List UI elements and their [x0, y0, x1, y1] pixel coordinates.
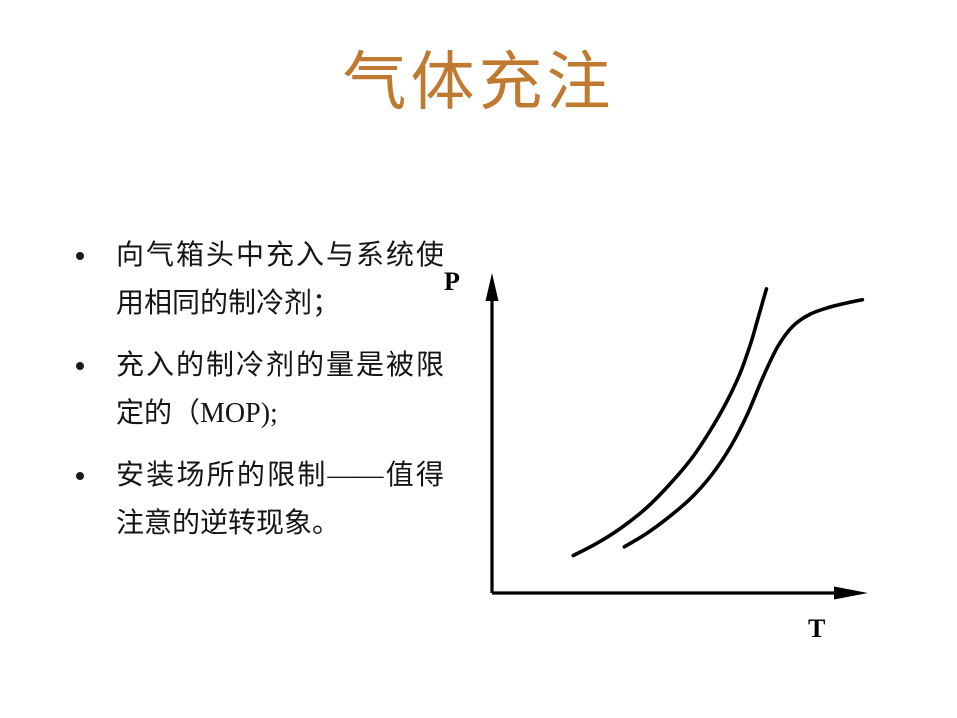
y-axis-label: P	[444, 267, 460, 296]
list-item: 向气箱头中充入与系统使用相同的制冷剂；	[64, 232, 444, 328]
list-item: 安装场所的限制——值得注意的逆转现象。	[64, 452, 444, 548]
x-axis-label: T	[808, 614, 825, 643]
bullet-list: 向气箱头中充入与系统使用相同的制冷剂； 充入的制冷剂的量是被限定的（MOP); …	[64, 232, 444, 562]
list-item-text: 向气箱头中充入与系统使用相同的制冷剂；	[116, 232, 444, 328]
list-item: 充入的制冷剂的量是被限定的（MOP);	[64, 342, 444, 438]
bullet-dot-icon	[76, 252, 84, 260]
chart-svg: P T	[430, 255, 900, 650]
curve-group	[573, 289, 862, 556]
x-axis-arrowhead	[834, 587, 868, 600]
data-curve-2	[624, 300, 862, 547]
bullet-dot-icon	[76, 362, 84, 370]
slide-canvas: 气体充注 向气箱头中充入与系统使用相同的制冷剂； 充入的制冷剂的量是被限定的（M…	[0, 0, 957, 718]
y-axis-arrowhead	[486, 273, 499, 301]
bullet-dot-icon	[76, 472, 84, 480]
page-title: 气体充注	[0, 46, 957, 120]
list-item-text: 安装场所的限制——值得注意的逆转现象。	[116, 452, 444, 548]
pressure-temperature-chart: P T	[430, 255, 900, 650]
list-item-text: 充入的制冷剂的量是被限定的（MOP);	[116, 342, 444, 438]
